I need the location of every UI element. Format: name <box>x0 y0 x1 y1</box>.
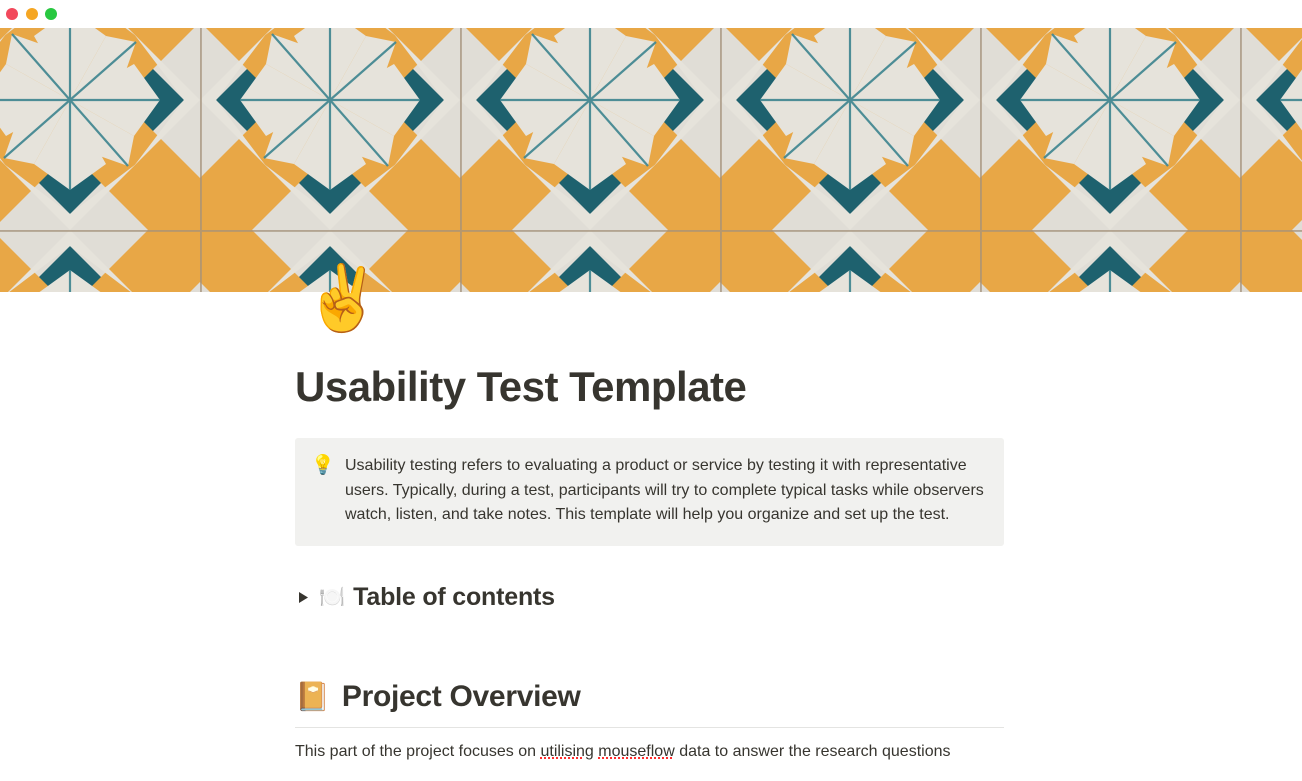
page-body: Usability Test Template 💡 Usability test… <box>0 292 1302 781</box>
notion-document-window: ✌️ Usability Test Template 💡 Usability t… <box>0 0 1302 781</box>
chevron-right-icon[interactable] <box>295 590 311 606</box>
heading-divider <box>295 727 1004 728</box>
window-titlebar <box>0 0 1302 28</box>
azulejo-tile-pattern <box>0 28 1302 292</box>
light-bulb-icon: 💡 <box>311 454 333 528</box>
section-heading-row[interactable]: 📔 Project Overview <box>295 679 1003 715</box>
toggle-label: Table of contents <box>353 583 555 612</box>
section-heading: Project Overview <box>342 680 581 714</box>
section-paragraph[interactable]: This part of the project focuses on util… <box>295 740 995 765</box>
paragraph-text-before: This part of the project focuses on <box>295 743 540 760</box>
window-traffic-lights <box>5 8 57 20</box>
toggle-block-table-of-contents[interactable]: 🍽️ Table of contents <box>295 579 1003 617</box>
page-cover-image[interactable] <box>0 28 1302 292</box>
callout-block[interactable]: 💡 Usability testing refers to evaluating… <box>295 438 1004 546</box>
page-title[interactable]: Usability Test Template <box>295 364 1003 410</box>
maximize-window-button[interactable] <box>45 8 57 20</box>
paragraph-text-after: data to answer the research questions <box>675 743 951 760</box>
misspelled-word-mouseflow[interactable]: mouseflow <box>598 743 674 760</box>
minimize-window-button[interactable] <box>26 8 38 20</box>
callout-text: Usability testing refers to evaluating a… <box>345 454 988 528</box>
close-window-button[interactable] <box>6 8 18 20</box>
misspelled-word-utilising[interactable]: utilising <box>540 743 593 760</box>
notebook-with-decorative-cover-icon: 📔 <box>295 679 330 715</box>
victory-hand-icon[interactable]: ✌️ <box>303 262 375 334</box>
fork-and-knife-with-plate-icon: 🍽️ <box>319 584 345 612</box>
page-content-column: Usability Test Template 💡 Usability test… <box>295 292 1003 764</box>
